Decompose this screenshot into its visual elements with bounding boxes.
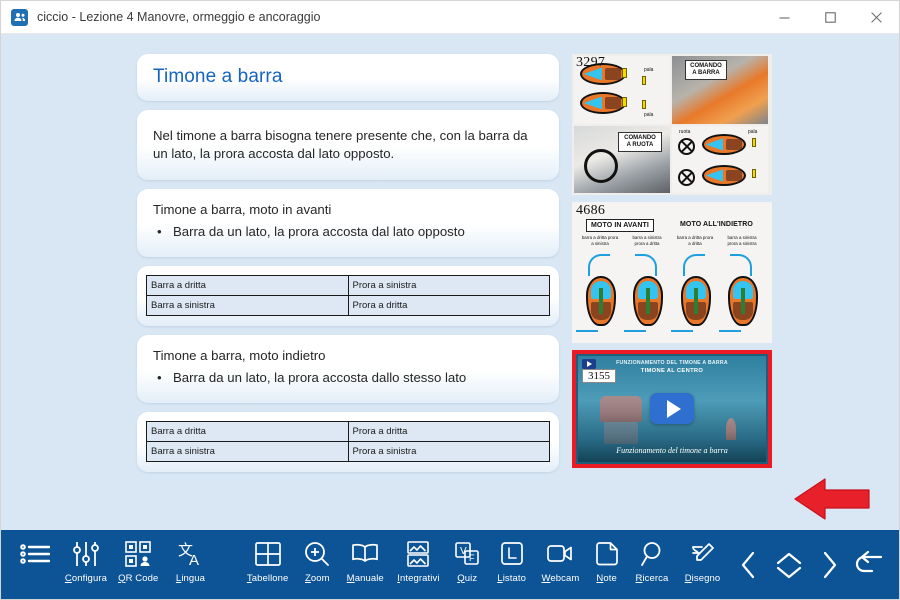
turn-arrow-icon (635, 254, 657, 276)
translate-icon: 文 A (177, 539, 205, 569)
content-card-intro: Nel timone a barra bisogna tenere presen… (137, 110, 559, 180)
rudder-table-forward: Barra a dritta Prora a sinistra Barra a … (146, 275, 550, 316)
motion-arrow (624, 330, 646, 332)
rudder-blade-icon (642, 100, 646, 109)
close-icon[interactable] (853, 1, 899, 34)
minimize-icon[interactable] (761, 1, 807, 34)
list-item: • Barra da un lato, la prora accosta dal… (153, 224, 543, 239)
page-title: Timone a barra (153, 66, 543, 88)
toolbar-item-quiz[interactable]: V F Quiz (446, 539, 488, 591)
window-controls (761, 1, 899, 34)
annotation-pala: pala (644, 112, 653, 118)
rudder-blade-icon (622, 68, 627, 78)
thumbnail-image-3297[interactable]: pala pala COMANDO A BARRA COMANDO A RUOT… (572, 54, 772, 195)
turn-arrow-icon (730, 254, 752, 276)
webcam-icon (546, 539, 574, 569)
toolbar-item-zoom[interactable]: Zoom (295, 539, 340, 591)
toolbar-item-tabellone[interactable]: Tabellone (241, 539, 295, 591)
search-icon (639, 539, 665, 569)
thumbnail-id-badge: 4686 (576, 203, 605, 219)
annotation-pala: pala (644, 67, 653, 73)
boat-diagram (681, 276, 711, 326)
draw-icon (689, 539, 717, 569)
toolbar-label: Ricerca (636, 573, 669, 584)
note-icon (594, 539, 620, 569)
slide-content-column: Timone a barra Nel timone a barra bisogn… (137, 54, 559, 481)
wheel-icon (678, 138, 695, 155)
users-icon (11, 9, 28, 26)
annotation-pala: pala (748, 129, 757, 135)
table-cell: Barra a dritta (147, 422, 349, 442)
slide-title-card: Timone a barra (137, 54, 559, 101)
boat-diagram (702, 165, 746, 186)
toolbar-item-lingua[interactable]: 文 A Lingua (164, 539, 216, 591)
annotation-3: barra a dritta prora a dritta (675, 235, 715, 246)
toolbar-item-webcam[interactable]: Webcam (535, 539, 586, 591)
toolbar-label: Manuale (347, 573, 384, 584)
toolbar-label: Disegno (685, 573, 721, 584)
list-item-label: Barra da un lato, la prora accosta dallo… (173, 370, 466, 385)
table-cell: Barra a sinistra (147, 296, 349, 316)
toolbar-item-configura[interactable]: Configura (60, 539, 112, 591)
table-cell: Prora a sinistra (348, 442, 550, 462)
list-item: • Barra da un lato, la prora accosta dal… (153, 370, 543, 385)
rudder-blade-icon (752, 169, 756, 178)
toolbar-label: Webcam (542, 573, 580, 584)
toolbar-item-note[interactable]: Note (586, 539, 628, 591)
table-card-avanti: Barra a dritta Prora a sinistra Barra a … (137, 266, 559, 326)
slide-list-button[interactable] (769, 539, 809, 591)
table-row: Barra a sinistra Prora a dritta (147, 296, 550, 316)
table-cell: Prora a dritta (348, 296, 550, 316)
motion-arrow (671, 330, 693, 332)
toolbar-label: Zoom (305, 573, 330, 584)
images-icon (405, 539, 431, 569)
book-icon (351, 539, 379, 569)
toolbar-item-integrativi[interactable]: Integrativi (391, 539, 447, 591)
rudder-blade-icon (752, 138, 756, 147)
boat-diagram (728, 276, 758, 326)
grid-table-icon (255, 539, 281, 569)
quiz-icon: V F (454, 539, 480, 569)
toolbar-label: Configura (65, 573, 107, 584)
section-heading-indietro: Timone a barra, moto indietro (153, 348, 543, 363)
toolbar-label: Lingua (176, 573, 205, 584)
thumbnail-id-badge: 3155 (582, 369, 616, 383)
video-caption: Funzionamento del timone a barra (578, 446, 766, 455)
video-header-line1: FUNZIONAMENTO DEL TIMONE A BARRA (578, 360, 766, 366)
rudder-blade-icon (642, 76, 646, 85)
svg-text:F: F (469, 553, 475, 563)
toolbar-item-disegno[interactable]: Disegno (676, 539, 728, 591)
rudder-blade-icon (622, 97, 627, 107)
motion-arrow (576, 330, 598, 332)
toolbar-label: Tabellone (247, 573, 289, 584)
label-moto-all-indietro: MOTO ALL'INDIETRO (676, 219, 757, 230)
window-title: ciccio - Lezione 4 Manovre, ormeggio e a… (37, 10, 321, 24)
list-icon (20, 539, 50, 569)
list-item-label: Barra da un lato, la prora accosta dal l… (173, 224, 465, 239)
slide-canvas: Timone a barra Nel timone a barra bisogn… (1, 34, 899, 530)
annotation-ruota: ruota (679, 129, 690, 135)
title-bar: ciccio - Lezione 4 Manovre, ormeggio e a… (1, 1, 899, 34)
boat-silhouette (600, 396, 642, 422)
toolbar-item-manuale[interactable]: Manuale (340, 539, 391, 591)
toolbar-item-listato[interactable]: Listato (488, 539, 535, 591)
table-cell: Barra a dritta (147, 276, 349, 296)
thumbnail-image-4686[interactable]: MOTO IN AVANTI MOTO ALL'INDIETRO barra a… (572, 202, 772, 343)
play-icon (582, 359, 596, 369)
table-cell: Prora a dritta (348, 422, 550, 442)
wheel-icon (678, 169, 695, 186)
toolbar-label: Integrativi (397, 573, 439, 584)
boat-diagram (586, 276, 616, 326)
turn-arrow-icon (588, 254, 610, 276)
label-moto-in-avanti: MOTO IN AVANTI (586, 219, 654, 232)
label-comando-a-barra: COMANDO A BARRA (685, 60, 727, 80)
media-thumbnail-column: pala pala COMANDO A BARRA COMANDO A RUOT… (572, 54, 772, 475)
toolbar-item-list[interactable] (11, 539, 60, 591)
rudder-table-reverse: Barra a dritta Prora a dritta Barra a si… (146, 421, 550, 462)
intro-paragraph: Nel timone a barra bisogna tenere presen… (153, 127, 543, 162)
boat-diagram (580, 92, 626, 114)
table-cell: Barra a sinistra (147, 442, 349, 462)
distant-boat-silhouette (726, 418, 736, 440)
zoom-in-icon (304, 539, 330, 569)
toolbar-item-qrcode[interactable]: QR Code (112, 539, 164, 591)
annotation-2: barra a sinistra prora a dritta (627, 235, 667, 246)
toolbar-label: Note (596, 573, 616, 584)
next-slide-button[interactable] (809, 539, 849, 591)
listing-icon (499, 539, 525, 569)
motion-arrow (719, 330, 741, 332)
bullet-icon: • (157, 370, 173, 385)
maximize-icon[interactable] (807, 1, 853, 34)
content-card-indietro: Timone a barra, moto indietro • Barra da… (137, 335, 559, 403)
bottom-toolbar: Configura QR Code 文 A Lingu (1, 530, 899, 599)
toolbar-label: Quiz (457, 573, 477, 584)
annotation-4: barra a sinistra prora a sinistra (722, 235, 762, 246)
previous-slide-button[interactable] (729, 539, 769, 591)
content-card-avanti: Timone a barra, moto in avanti • Barra d… (137, 189, 559, 257)
annotation-1: barra a dritta prora a sinistra (580, 235, 620, 246)
table-row: Barra a sinistra Prora a sinistra (147, 442, 550, 462)
video-preview: FUNZIONAMENTO DEL TIMONE A BARRA TIMONE … (578, 356, 766, 462)
thumbnail-video-3155[interactable]: FUNZIONAMENTO DEL TIMONE A BARRA TIMONE … (572, 350, 772, 468)
boat-diagram (702, 134, 746, 155)
toolbar-label: QR Code (118, 573, 158, 584)
section-heading-avanti: Timone a barra, moto in avanti (153, 202, 543, 217)
boat-reflection (604, 422, 638, 444)
back-button[interactable] (849, 539, 889, 591)
steering-wheel-graphic (584, 149, 618, 183)
left-arrow-annotation (793, 476, 871, 527)
qrcode-icon (125, 539, 151, 569)
toolbar-label: Listato (497, 573, 526, 584)
table-cell: Prora a sinistra (348, 276, 550, 296)
title-bar-left: ciccio - Lezione 4 Manovre, ormeggio e a… (1, 9, 761, 26)
sliders-icon (72, 539, 100, 569)
turn-arrow-icon (683, 254, 705, 276)
application-window: ciccio - Lezione 4 Manovre, ormeggio e a… (0, 0, 900, 600)
svg-text:A: A (189, 552, 199, 567)
toolbar-item-ricerca[interactable]: Ricerca (628, 539, 677, 591)
play-video-button[interactable] (650, 393, 694, 424)
table-card-indietro: Barra a dritta Prora a dritta Barra a si… (137, 412, 559, 472)
bullet-icon: • (157, 224, 173, 239)
table-row: Barra a dritta Prora a sinistra (147, 276, 550, 296)
thumbnail-id-badge: 3297 (576, 55, 605, 71)
boat-diagram (633, 276, 663, 326)
label-comando-a-ruota: COMANDO A RUOTA (618, 132, 662, 152)
table-row: Barra a dritta Prora a dritta (147, 422, 550, 442)
